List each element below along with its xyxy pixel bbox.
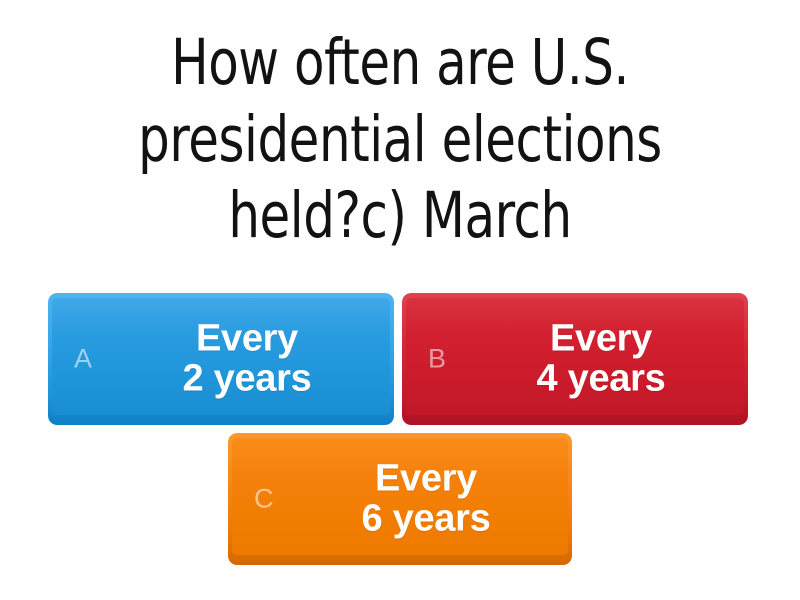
answer-option-c[interactable]: C Every 6 years bbox=[228, 433, 572, 565]
answer-option-a[interactable]: A Every 2 years bbox=[48, 293, 394, 425]
quiz-screen: How often are U.S. presidential election… bbox=[0, 0, 800, 600]
answer-option-b[interactable]: B Every 4 years bbox=[402, 293, 748, 425]
answer-options: A Every 2 years B Every 4 years C Every … bbox=[0, 288, 800, 588]
answer-b-face bbox=[406, 298, 744, 415]
question-area: How often are U.S. presidential election… bbox=[0, 10, 800, 270]
answer-c-face bbox=[232, 438, 568, 555]
question-text: How often are U.S. presidential election… bbox=[74, 25, 725, 256]
answer-a-face bbox=[52, 298, 390, 415]
